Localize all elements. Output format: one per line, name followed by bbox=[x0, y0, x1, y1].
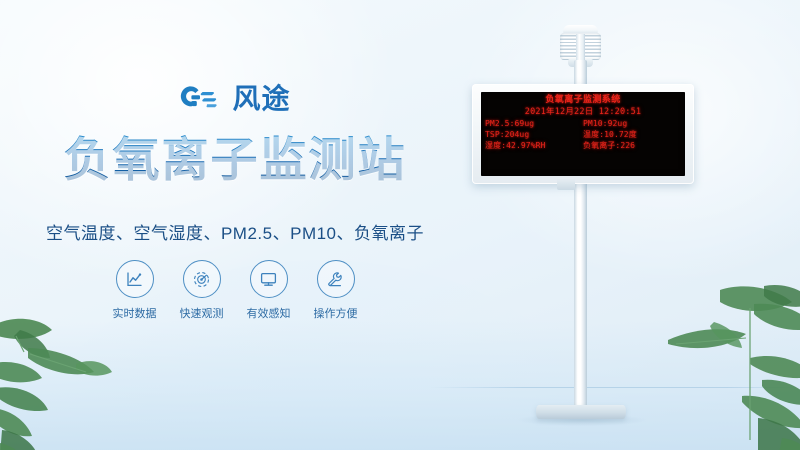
led-display-frame: 负氧离子监测系统 2021年12月22日 12:20:51 PM2.5:69ug… bbox=[472, 84, 694, 184]
led-row: TSP:204ug 温度:10.72度 bbox=[485, 131, 681, 139]
promo-banner: 风途 负氧离子监测站 空气温度、空气湿度、PM2.5、PM10、负氧离子 实时数… bbox=[0, 0, 800, 450]
led-reading-humidity: 湿度:42.97%RH bbox=[485, 142, 583, 150]
led-row: PM2.5:69ug PM10:92ug bbox=[485, 120, 681, 128]
subtitle: 空气温度、空气湿度、PM2.5、PM10、负氧离子 bbox=[0, 219, 470, 244]
line-chart-icon bbox=[116, 260, 154, 298]
feature-label: 实时数据 bbox=[113, 305, 157, 321]
brand-lockup: 风途 bbox=[0, 84, 470, 114]
wrench-icon bbox=[317, 260, 355, 298]
led-reading-temperature: 温度:10.72度 bbox=[583, 131, 681, 139]
display-mount-bracket bbox=[557, 178, 575, 190]
monitor-screen-icon bbox=[250, 260, 288, 298]
feature-item-fast-observation[interactable]: 快速观测 bbox=[180, 260, 224, 321]
page-title: 负氧离子监测站 bbox=[0, 133, 470, 187]
led-reading-tsp: TSP:204ug bbox=[485, 131, 583, 139]
led-reading-negative-ion: 负氧离子:226 bbox=[583, 142, 681, 150]
brand-name: 风途 bbox=[232, 85, 290, 113]
led-reading-pm25: PM2.5:69ug bbox=[485, 120, 583, 128]
feature-label: 快速观测 bbox=[180, 305, 224, 321]
fengtu-wind-logo-icon bbox=[179, 84, 223, 114]
radar-sensing-icon bbox=[183, 260, 221, 298]
led-row: 湿度:42.97%RH 负氧离子:226 bbox=[485, 142, 681, 150]
led-display-panel: 负氧离子监测系统 2021年12月22日 12:20:51 PM2.5:69ug… bbox=[481, 92, 685, 176]
feature-list: 实时数据 快速观测 bbox=[0, 260, 470, 321]
led-datetime: 2021年12月22日 12:20:51 bbox=[481, 108, 685, 117]
feature-label: 操作方便 bbox=[314, 305, 358, 321]
monitoring-station: 负氧离子监测系统 2021年12月22日 12:20:51 PM2.5:69ug… bbox=[452, 0, 712, 450]
feature-label: 有效感知 bbox=[247, 305, 291, 321]
led-title: 负氧离子监测系统 bbox=[481, 96, 685, 105]
copy-block: 风途 负氧离子监测站 空气温度、空气湿度、PM2.5、PM10、负氧离子 实时数… bbox=[0, 0, 470, 450]
feature-item-realtime-data[interactable]: 实时数据 bbox=[113, 260, 157, 321]
led-reading-pm10: PM10:92ug bbox=[583, 120, 681, 128]
feature-item-effective-sensing[interactable]: 有效感知 bbox=[247, 260, 291, 321]
base-plate-icon bbox=[536, 405, 626, 419]
feature-item-easy-operation[interactable]: 操作方便 bbox=[314, 260, 358, 321]
led-readings: PM2.5:69ug PM10:92ug TSP:204ug 温度:10.72度… bbox=[485, 120, 681, 153]
